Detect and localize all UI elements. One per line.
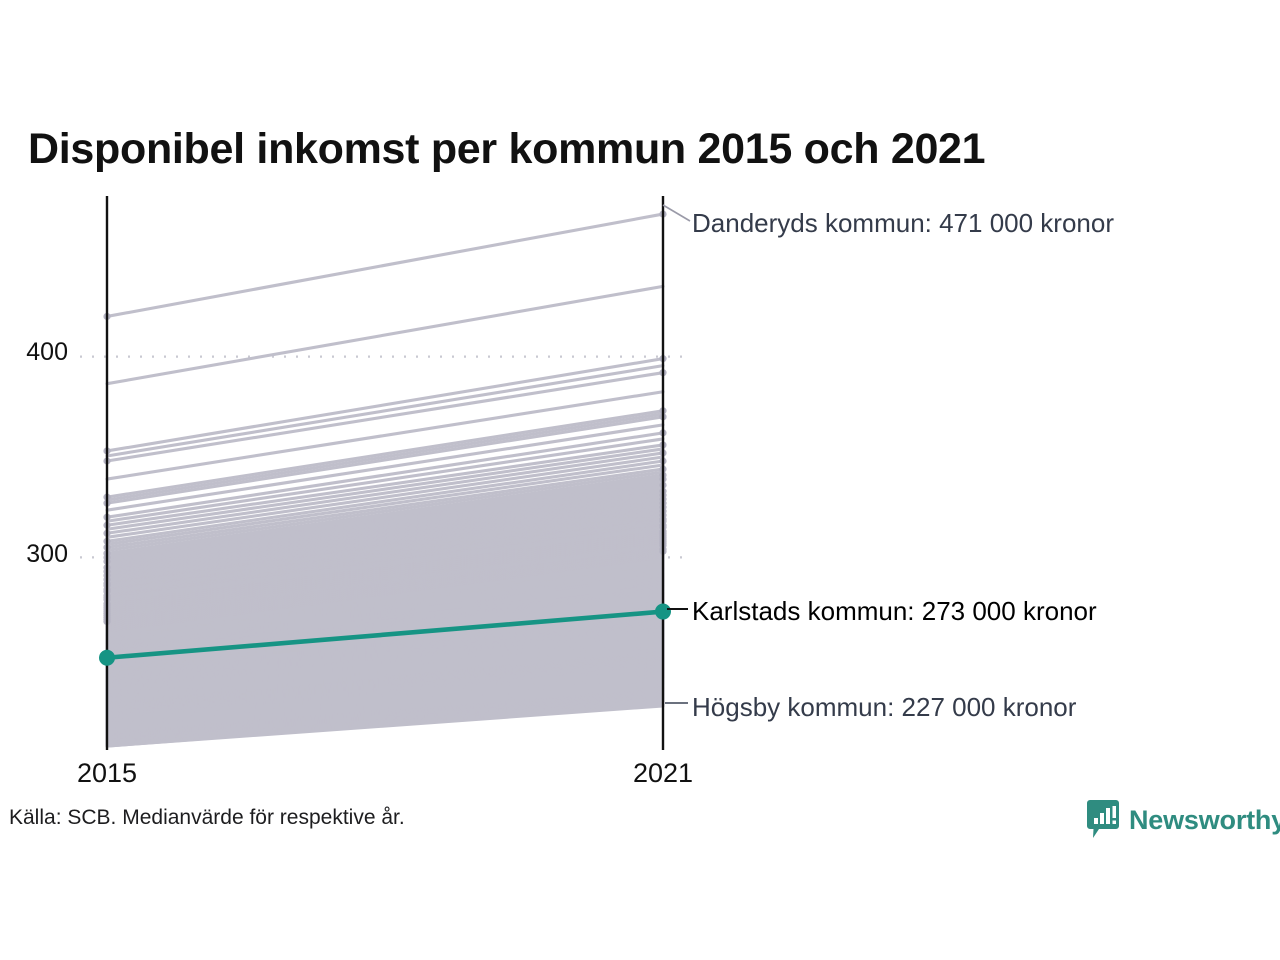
source-note: Källa: SCB. Medianvärde för respektive å… [9,806,405,830]
highlight-dot-2015[interactable] [99,650,115,666]
danderyd-connector [663,205,690,221]
newsworthy-logo[interactable]: Newsworthy [1086,798,1280,842]
y-tick-label-300: 300 [26,540,68,568]
x-tick-label-2021: 2021 [633,758,693,788]
x-tick-label-2015: 2015 [77,758,137,788]
annotation-label-hogsby: Högsby kommun: 227 000 kronor [692,692,1077,722]
logo-wordmark: Newsworthy [1129,805,1280,836]
annotation-label-danderyd: Danderyds kommun: 471 000 kronor [692,208,1114,238]
highlight-dot-2021[interactable] [655,604,671,620]
series-line-group [103,210,666,746]
y-tick-label-400: 400 [26,338,68,366]
annotation-group: Danderyds kommun: 471 000 kronor Karlsta… [663,205,1114,722]
bar-chart-speech-bubble-icon [1086,799,1120,841]
chart-container: Disponibel inkomst per kommun 2015 och 2… [0,0,1280,960]
series-line [107,373,663,461]
series-line [107,366,663,456]
annotation-label-karlstad: Karlstads kommun: 273 000 kronor [692,596,1097,626]
